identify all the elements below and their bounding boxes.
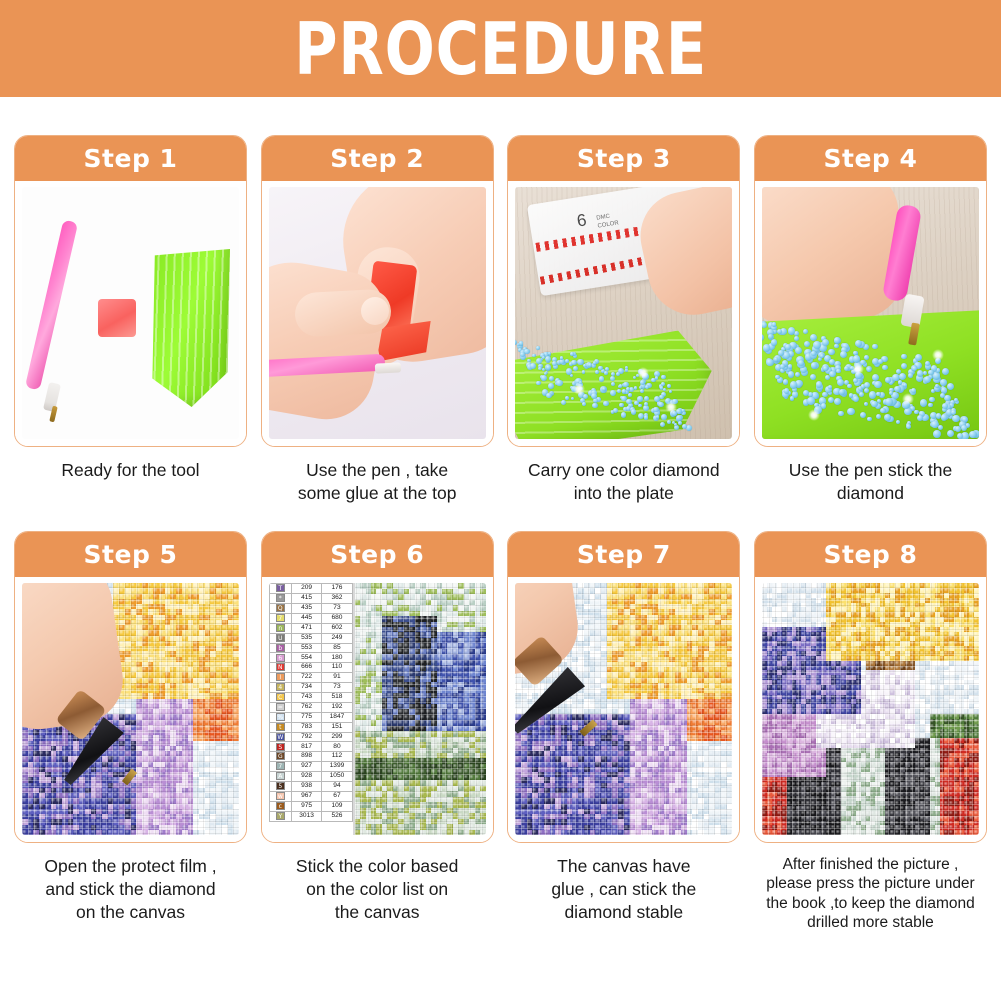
step-header-1: Step 1 (15, 136, 246, 181)
diamond-bead (872, 344, 878, 350)
diamond-bead (885, 377, 891, 383)
diamond-bead (638, 404, 641, 407)
bead-sparkle (852, 363, 864, 375)
step-caption-2: Use the pen , take some glue at the top (261, 459, 494, 505)
diamond-bead (928, 370, 933, 375)
color-list-row: *415362 (269, 594, 352, 604)
diamond-bead (598, 366, 603, 371)
diamond-bead (519, 341, 523, 345)
diamond-bead (915, 354, 922, 361)
color-code-cell: 898 (291, 752, 321, 762)
diamond-bead (874, 381, 882, 389)
color-symbol-cell: A (269, 772, 291, 782)
diamond-bead (836, 369, 841, 374)
color-count-cell: 1399 (322, 762, 352, 772)
color-code-cell: 762 (291, 702, 321, 712)
blue-beads-group (762, 187, 979, 439)
color-code-cell: 535 (291, 633, 321, 643)
diamond-bead (658, 402, 663, 407)
diamond-bead (626, 387, 630, 391)
diamond-bead (530, 363, 536, 369)
color-code-cell: 445 (291, 613, 321, 623)
diamond-bead (676, 415, 682, 421)
diamond-bead (947, 383, 954, 390)
color-list-row: w96767 (269, 791, 352, 801)
diamond-bead (867, 367, 871, 371)
diamond-bead (810, 374, 816, 380)
diamond-bead (565, 396, 569, 400)
diamond-bead (867, 417, 872, 422)
color-list-row: Y3013526 (269, 811, 352, 821)
diamond-bead (790, 381, 797, 388)
diamond-bead (656, 415, 659, 418)
color-code-cell: 975 (291, 801, 321, 811)
color-symbol-cell: w (269, 791, 291, 801)
diamond-bead (583, 394, 588, 399)
step-header-label-6: Step 6 (330, 540, 424, 569)
diamond-bead (763, 344, 770, 351)
step-image-2 (262, 181, 493, 446)
color-swatch-icon: C (276, 693, 285, 701)
blue-beads-group (515, 187, 732, 439)
diamond-bead (610, 376, 615, 381)
color-list-row: G898112 (269, 752, 352, 762)
diamond-bead (882, 365, 888, 371)
diamond-bead (911, 388, 916, 393)
diamond-bead (772, 322, 776, 326)
diamond-bead (633, 376, 636, 379)
color-list-table: T209176*415362Q435737445680n471602U53524… (269, 583, 353, 821)
diamond-bead (803, 329, 808, 334)
color-code-cell: 435 (291, 603, 321, 613)
color-count-cell: 176 (322, 584, 352, 594)
color-swatch-icon: T (276, 584, 285, 592)
color-list-row: N666110 (269, 663, 352, 673)
color-swatch-icon: G (276, 752, 285, 760)
color-count-cell: 109 (322, 801, 352, 811)
diamond-bead (788, 364, 793, 369)
diamond-bead (548, 383, 554, 389)
color-count-cell: 1847 (322, 712, 352, 722)
diamond-bead (928, 403, 933, 408)
diamond-bead (933, 372, 941, 380)
step-card-1: Step 1 (14, 135, 247, 447)
color-count-cell: 249 (322, 633, 352, 643)
glue-pickup-photo (269, 187, 486, 439)
color-list-row: Q43573 (269, 603, 352, 613)
color-code-cell: 967 (291, 791, 321, 801)
diamond-bead (885, 398, 893, 406)
color-symbol-cell: I (269, 673, 291, 683)
color-swatch-icon: n (276, 624, 285, 632)
diamond-bead (613, 408, 618, 413)
diamond-bead (878, 359, 884, 365)
diamond-bead (942, 403, 948, 409)
diamond-bead (637, 396, 642, 401)
caption-line: Use the pen stick the (754, 459, 987, 482)
color-symbol-cell: 4 (269, 683, 291, 693)
color-symbol-cell: * (269, 594, 291, 604)
diamond-bead (536, 346, 540, 350)
color-symbol-cell: Q (269, 603, 291, 613)
step-card-2: Step 2 (261, 135, 494, 447)
step-header-5: Step 5 (15, 532, 246, 577)
diamond-bead (640, 389, 644, 393)
caption-line: diamond (754, 482, 987, 505)
step-header-label-4: Step 4 (824, 144, 918, 173)
diamond-bead (834, 344, 838, 348)
color-count-cell: 180 (322, 653, 352, 663)
color-list-photo: T209176*415362Q435737445680n471602U53524… (269, 583, 486, 835)
diamond-bead (807, 397, 814, 404)
diamond-bead (783, 379, 788, 384)
fingernail-icon (361, 297, 389, 325)
diamond-bead (775, 375, 780, 380)
diamond-bead (837, 379, 844, 386)
color-code-cell: 3013 (291, 811, 321, 821)
diamond-bead (634, 386, 637, 389)
color-symbol-cell: 6 (269, 653, 291, 663)
diamond-bead (766, 359, 774, 367)
color-count-cell: 362 (322, 594, 352, 604)
color-swatch-icon: Q (276, 604, 285, 612)
step-card-6: Step 6 T209176*415362Q435737445680n47160… (261, 531, 494, 843)
color-symbol-cell: c (269, 801, 291, 811)
diamond-bead (869, 391, 877, 399)
color-count-cell: 526 (322, 811, 352, 821)
color-symbol-cell: 7 (269, 762, 291, 772)
color-code-cell: 743 (291, 692, 321, 702)
diamond-bead (570, 352, 574, 356)
diamond-bead (899, 373, 906, 380)
color-list-row: 6554180 (269, 653, 352, 663)
color-symbol-cell: T (269, 584, 291, 594)
step-card-4: Step 4 (754, 135, 987, 447)
diamond-bead (544, 372, 547, 375)
bead-sparkle (932, 349, 944, 361)
step-caption-5: Open the protect film , and stick the di… (14, 855, 247, 924)
color-code-cell: 928 (291, 772, 321, 782)
diamond-bead (917, 415, 923, 421)
diamond-bead (947, 430, 954, 437)
diamond-bead (582, 370, 585, 373)
color-swatch-icon: 5 (276, 782, 285, 790)
diamond-bead (681, 409, 685, 413)
diamond-bead (762, 334, 764, 341)
color-list-row: T209176 (269, 584, 352, 594)
diamond-bead (884, 414, 891, 421)
diamond-bead (622, 389, 626, 393)
color-list-row: =762192 (269, 702, 352, 712)
diamond-bead (520, 352, 525, 357)
color-symbol-cell: N (269, 663, 291, 673)
diamond-bead (602, 387, 606, 391)
diamond-bead (599, 376, 604, 381)
color-symbol-cell: C (269, 692, 291, 702)
diamond-bead (611, 382, 615, 386)
caption-line: on the canvas (14, 901, 247, 924)
diamond-bead (896, 420, 900, 424)
color-swatch-icon: A (276, 772, 285, 780)
caption-line: and stick the diamond (14, 878, 247, 901)
color-list-row: %7751847 (269, 712, 352, 722)
diamond-bead (820, 354, 824, 358)
color-swatch-icon: c (276, 802, 285, 810)
step-card-7: Step 7 (507, 531, 740, 843)
page-title: PROCEDURE (294, 13, 707, 85)
steps-grid: Step 1 Ready for the tool (0, 135, 1001, 932)
diamond-bead (644, 415, 648, 419)
color-code-cell: 775 (291, 712, 321, 722)
diamond-bead (643, 405, 649, 411)
diamond-bead (834, 337, 841, 344)
step-block-5: Step 5 Open the protect film , and stick… (14, 531, 247, 932)
diamond-bead (788, 371, 795, 378)
color-code-cell: 938 (291, 782, 321, 792)
color-count-cell: 85 (322, 643, 352, 653)
diamond-bead (864, 382, 870, 388)
diamond-bead (777, 329, 782, 334)
diamond-bead (816, 381, 823, 388)
diamond-bead (834, 398, 841, 405)
color-code-cell: 927 (291, 762, 321, 772)
diamond-bead (592, 403, 598, 409)
diamond-bead (546, 365, 551, 370)
step-header-6: Step 6 (262, 532, 493, 577)
diamond-bead (669, 390, 673, 394)
color-swatch-icon: = (276, 703, 285, 711)
diamond-bead (548, 352, 551, 355)
color-list-row: C743518 (269, 692, 352, 702)
color-count-cell: 112 (322, 752, 352, 762)
diamond-bead (938, 425, 943, 430)
pink-pen-icon (25, 220, 78, 391)
diamond-bead (894, 386, 900, 392)
color-list-panel: T209176*415362Q435737445680n471602U53524… (269, 583, 355, 835)
diamond-bead (933, 430, 941, 438)
color-count-cell: 91 (322, 673, 352, 683)
diamond-bead (785, 344, 791, 350)
diamond-bead (573, 366, 578, 371)
diamond-bead (864, 402, 869, 407)
diamond-bead (644, 402, 648, 406)
color-count-cell: 110 (322, 663, 352, 673)
diamond-bead (616, 372, 620, 376)
diamond-bead (944, 395, 950, 401)
caption-line: Ready for the tool (14, 459, 247, 482)
diamond-bead (661, 375, 665, 379)
diamond-bead (661, 414, 667, 420)
partial-canvas (355, 583, 486, 835)
color-symbol-cell: 7 (269, 613, 291, 623)
diamond-bead (906, 424, 911, 429)
step-caption-1: Ready for the tool (14, 459, 247, 482)
color-count-cell: 73 (322, 603, 352, 613)
diamond-bead (595, 370, 599, 374)
diamond-bead (847, 384, 852, 389)
color-symbol-cell: n (269, 623, 291, 633)
color-count-cell: 518 (322, 692, 352, 702)
diamond-bead (957, 433, 963, 439)
step-block-4: Step 4 Use the pen stick the diamond (754, 135, 987, 505)
pen-tip-icon (374, 362, 400, 373)
color-list-row: S81780 (269, 742, 352, 752)
step-image-7 (508, 577, 739, 842)
diamond-bead (908, 373, 913, 378)
step-header-3: Step 3 (508, 136, 739, 181)
diamond-bead (639, 386, 642, 389)
diamond-bead (828, 349, 834, 355)
diamond-bead (811, 362, 817, 368)
diamond-bead (660, 422, 665, 427)
step-caption-3: Carry one color diamond into the plate (507, 459, 740, 505)
tray-grooves (150, 249, 230, 407)
diamond-bead (847, 408, 855, 416)
step-card-5: Step 5 (14, 531, 247, 843)
diamond-bead (813, 341, 821, 349)
diamond-bead (925, 361, 930, 366)
diamond-bead (619, 384, 622, 387)
color-swatch-icon: w (276, 792, 285, 800)
step-header-label-5: Step 5 (84, 540, 178, 569)
diamond-bead (644, 396, 649, 401)
diamond-bead (603, 401, 609, 407)
caption-line: Use the pen , take (261, 459, 494, 482)
step-image-1 (15, 181, 246, 446)
color-list-row: I72291 (269, 673, 352, 683)
caption-line: Stick the color based (261, 855, 494, 878)
step-header-label-2: Step 2 (330, 144, 424, 173)
page-header-banner: PROCEDURE (0, 0, 1001, 97)
diamond-bead (667, 420, 671, 424)
diamond-bead (794, 336, 799, 341)
diamond-bead (803, 390, 809, 396)
diamond-bead (838, 411, 844, 417)
color-count-cell: 80 (322, 742, 352, 752)
step-image-6: T209176*415362Q435737445680n471602U53524… (262, 577, 493, 842)
color-swatch-icon: Y (276, 812, 285, 820)
diamond-bead (605, 367, 609, 371)
step-header-7: Step 7 (508, 532, 739, 577)
step-image-3: 6 DMCCOLOR (508, 181, 739, 446)
diamond-bead (804, 341, 811, 348)
tools-photo (22, 187, 239, 439)
step-header-4: Step 4 (755, 136, 986, 181)
color-list-row: A9281050 (269, 772, 352, 782)
color-swatch-icon: N (276, 663, 285, 671)
color-code-cell: 415 (291, 594, 321, 604)
diamond-bead (653, 407, 659, 413)
step-header-2: Step 2 (262, 136, 493, 181)
diamond-bead (774, 357, 779, 362)
caption-line: Carry one color diamond (507, 459, 740, 482)
bead-sparkle (902, 393, 914, 405)
color-symbol-cell: G (269, 752, 291, 762)
diamond-bead (914, 410, 919, 415)
color-swatch-icon: t (276, 723, 285, 731)
diamond-bead (571, 360, 576, 365)
diamond-bead (859, 392, 864, 397)
diamond-bead (942, 368, 949, 375)
color-code-cell: 209 (291, 584, 321, 594)
diamond-bead (962, 417, 968, 423)
diamond-bead (524, 349, 530, 355)
diamond-bead (655, 376, 659, 380)
caption-line: Open the protect film , (14, 855, 247, 878)
canvas-photo-7 (515, 583, 732, 835)
diamond-bead (541, 375, 547, 381)
diamond-bead (955, 426, 961, 432)
step-header-label-3: Step 3 (577, 144, 671, 173)
color-swatch-icon: b (276, 644, 285, 652)
diamond-bead (780, 364, 785, 369)
diamond-bead (844, 366, 849, 371)
diamond-bead (864, 388, 869, 393)
diamond-bead (969, 431, 976, 438)
color-swatch-icon: I (276, 673, 285, 681)
caption-line: into the plate (507, 482, 740, 505)
step-block-7: Step 7 The canvas have glue , can stick … (507, 531, 740, 932)
diamond-bead (917, 370, 924, 377)
color-swatch-icon: 7 (276, 762, 285, 770)
color-list-row: b55385 (269, 643, 352, 653)
diamond-bead (923, 371, 927, 375)
color-code-cell: 783 (291, 722, 321, 732)
color-code-cell: 792 (291, 732, 321, 742)
color-symbol-cell: S (269, 742, 291, 752)
diamond-bead (556, 380, 562, 386)
diamond-bead (560, 356, 563, 359)
color-count-cell: 94 (322, 782, 352, 792)
color-count-cell: 67 (322, 791, 352, 801)
pour-beads-photo: 6 DMCCOLOR (515, 187, 732, 439)
diamond-bead (778, 350, 784, 356)
step-image-5 (15, 577, 246, 842)
color-list-row: c975109 (269, 801, 352, 811)
color-symbol-cell: 5 (269, 782, 291, 792)
diamond-bead (880, 408, 885, 413)
color-symbol-cell: b (269, 643, 291, 653)
diamond-bead (940, 393, 945, 398)
diamond-bead (898, 380, 903, 385)
diamond-bead (570, 374, 573, 377)
diamond-bead (532, 354, 535, 357)
diamond-bead (536, 381, 540, 385)
diamond-bead (610, 390, 616, 396)
diamond-bead (920, 399, 927, 406)
color-count-cell: 192 (322, 702, 352, 712)
color-code-cell: 471 (291, 623, 321, 633)
steps-row-bottom: Step 5 Open the protect film , and stick… (14, 531, 987, 932)
color-swatch-icon: U (276, 634, 285, 642)
mosaic-bead (233, 830, 239, 835)
color-symbol-cell: Y (269, 811, 291, 821)
diamond-bead (545, 356, 551, 362)
diamond-bead (829, 371, 836, 378)
diamond-bead (546, 393, 552, 399)
diamond-bead (762, 322, 767, 328)
diamond-bead (822, 339, 829, 346)
diamond-bead (604, 371, 607, 374)
diamond-bead (566, 368, 573, 375)
color-symbol-cell: % (269, 712, 291, 722)
color-list-row: U535249 (269, 633, 352, 643)
color-count-cell: 680 (322, 613, 352, 623)
color-count-cell: 151 (322, 722, 352, 732)
diamond-bead (912, 366, 917, 371)
color-count-cell: 1050 (322, 772, 352, 782)
diamond-bead (810, 334, 818, 342)
